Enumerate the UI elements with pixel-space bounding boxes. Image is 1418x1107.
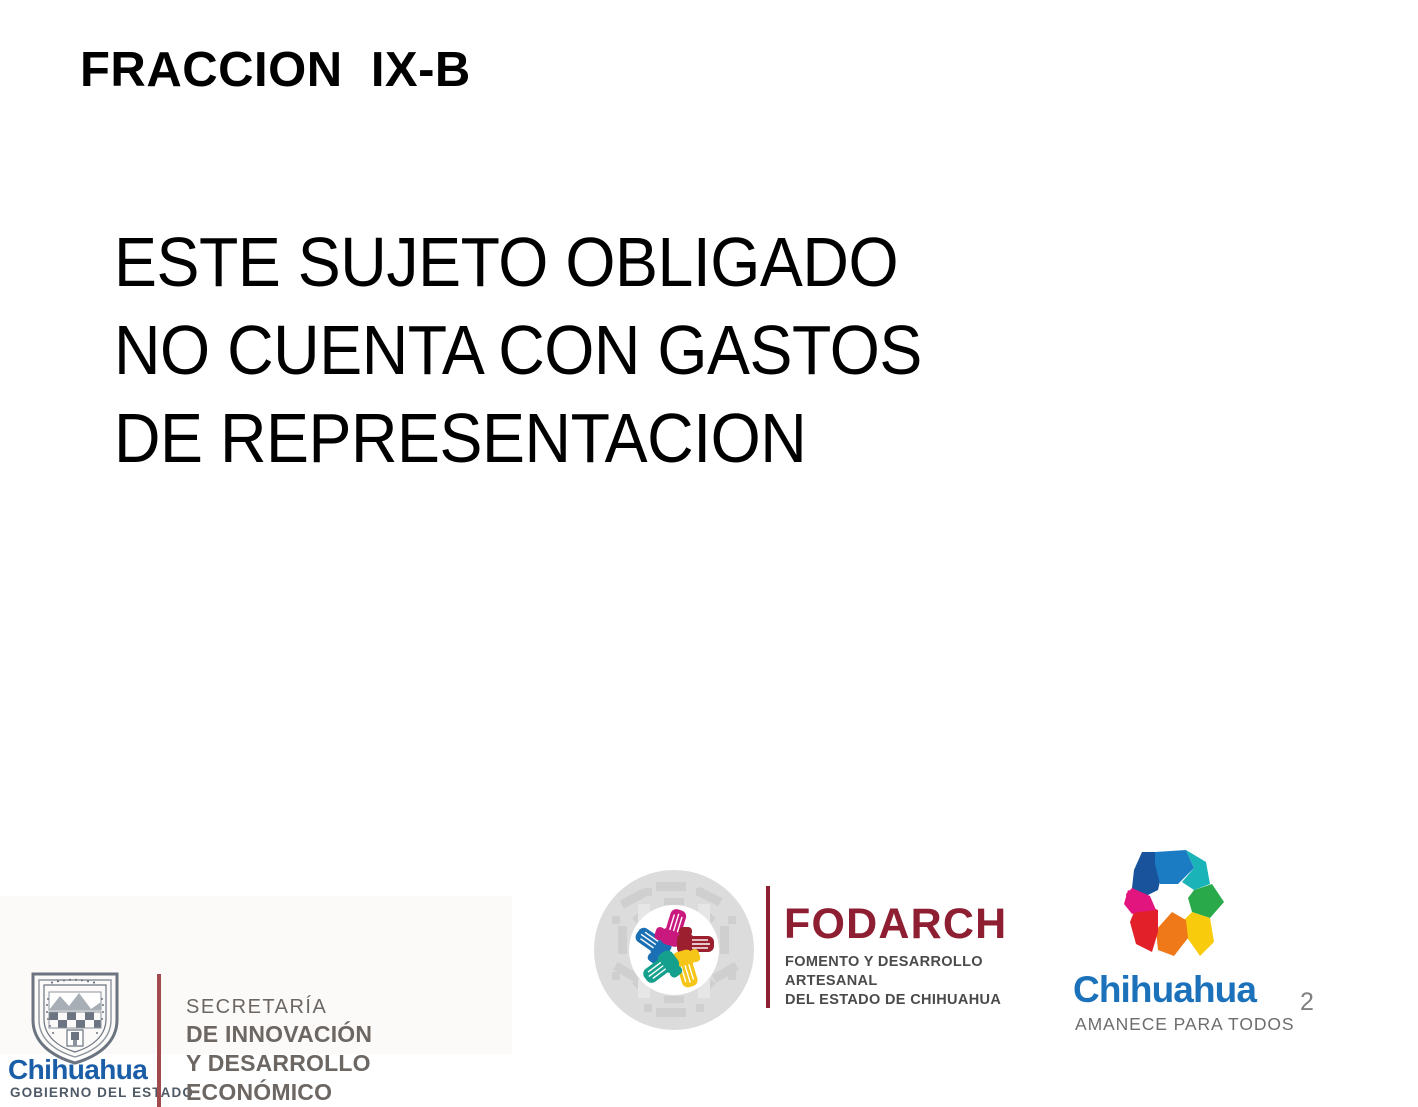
- secretaria-lockup: SECRETARÍA DE INNOVACIÓN Y DESARROLLO EC…: [186, 994, 512, 1107]
- logo-divider: [157, 974, 161, 1107]
- fodarch-hands-circle-icon: [592, 868, 756, 1032]
- body-text-line-1: ESTE SUJETO OBLIGADO: [114, 218, 1144, 306]
- gobierno-subtitle: GOBIERNO DEL ESTADO: [10, 1085, 194, 1100]
- fodarch-subtitle: FOMENTO Y DESARROLLO ARTESANAL DEL ESTAD…: [785, 953, 1012, 1010]
- secretaria-line-3: Y DESARROLLO ECONÓMICO: [186, 1049, 512, 1107]
- fodarch-wordmark: FODARCH: [784, 900, 1007, 949]
- body-text-block: ESTE SUJETO OBLIGADO NO CUENTA CON GASTO…: [114, 218, 1234, 482]
- chihuahua-amanece-logo: Chihuahua AMANECE PARA TODOS: [1060, 836, 1300, 1036]
- amanece-wordmark: Chihuahua: [1073, 969, 1256, 1011]
- page-title: FRACCION IX-B: [80, 42, 471, 98]
- fodarch-subtitle-line-2: DEL ESTADO DE CHIHUAHUA: [785, 991, 1012, 1010]
- chihuahua-shield-icon: [27, 968, 123, 1066]
- fodarch-divider: [766, 886, 770, 1008]
- secretaria-line-1: SECRETARÍA: [186, 994, 512, 1020]
- fodarch-logo: FODARCH FOMENTO Y DESARROLLO ARTESANAL D…: [592, 864, 1012, 1034]
- amanece-subtitle: AMANECE PARA TODOS: [1075, 1014, 1294, 1035]
- page-number: 2: [1300, 988, 1314, 1017]
- fodarch-subtitle-line-1: FOMENTO Y DESARROLLO ARTESANAL: [785, 953, 1012, 991]
- body-text-line-3: DE REPRESENTACION: [114, 394, 1144, 482]
- body-text-line-2: NO CUENTA CON GASTOS: [114, 306, 1144, 394]
- secretaria-line-2: DE INNOVACIÓN: [186, 1020, 512, 1049]
- chihuahua-map-icon: [1108, 840, 1236, 968]
- gobierno-wordmark: Chihuahua: [8, 1054, 147, 1086]
- footer-logo-strip: Chihuahua GOBIERNO DEL ESTADO SECRETARÍA…: [0, 830, 1418, 1067]
- gobierno-secretaria-logo: Chihuahua GOBIERNO DEL ESTADO SECRETARÍA…: [0, 896, 512, 1054]
